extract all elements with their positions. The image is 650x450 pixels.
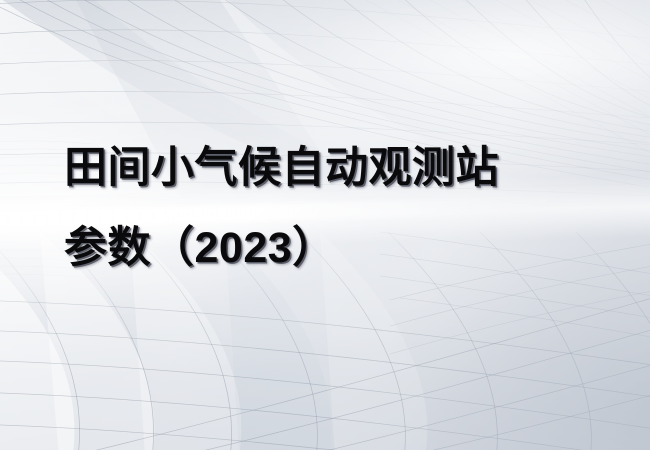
title-slide: 田间小气候自动观测站 参数（2023） [0, 0, 650, 450]
title-line-1: 田间小气候自动观测站 [64, 128, 604, 208]
title-block: 田间小气候自动观测站 参数（2023） [64, 128, 604, 288]
title-line-2: 参数（2023） [64, 208, 604, 288]
